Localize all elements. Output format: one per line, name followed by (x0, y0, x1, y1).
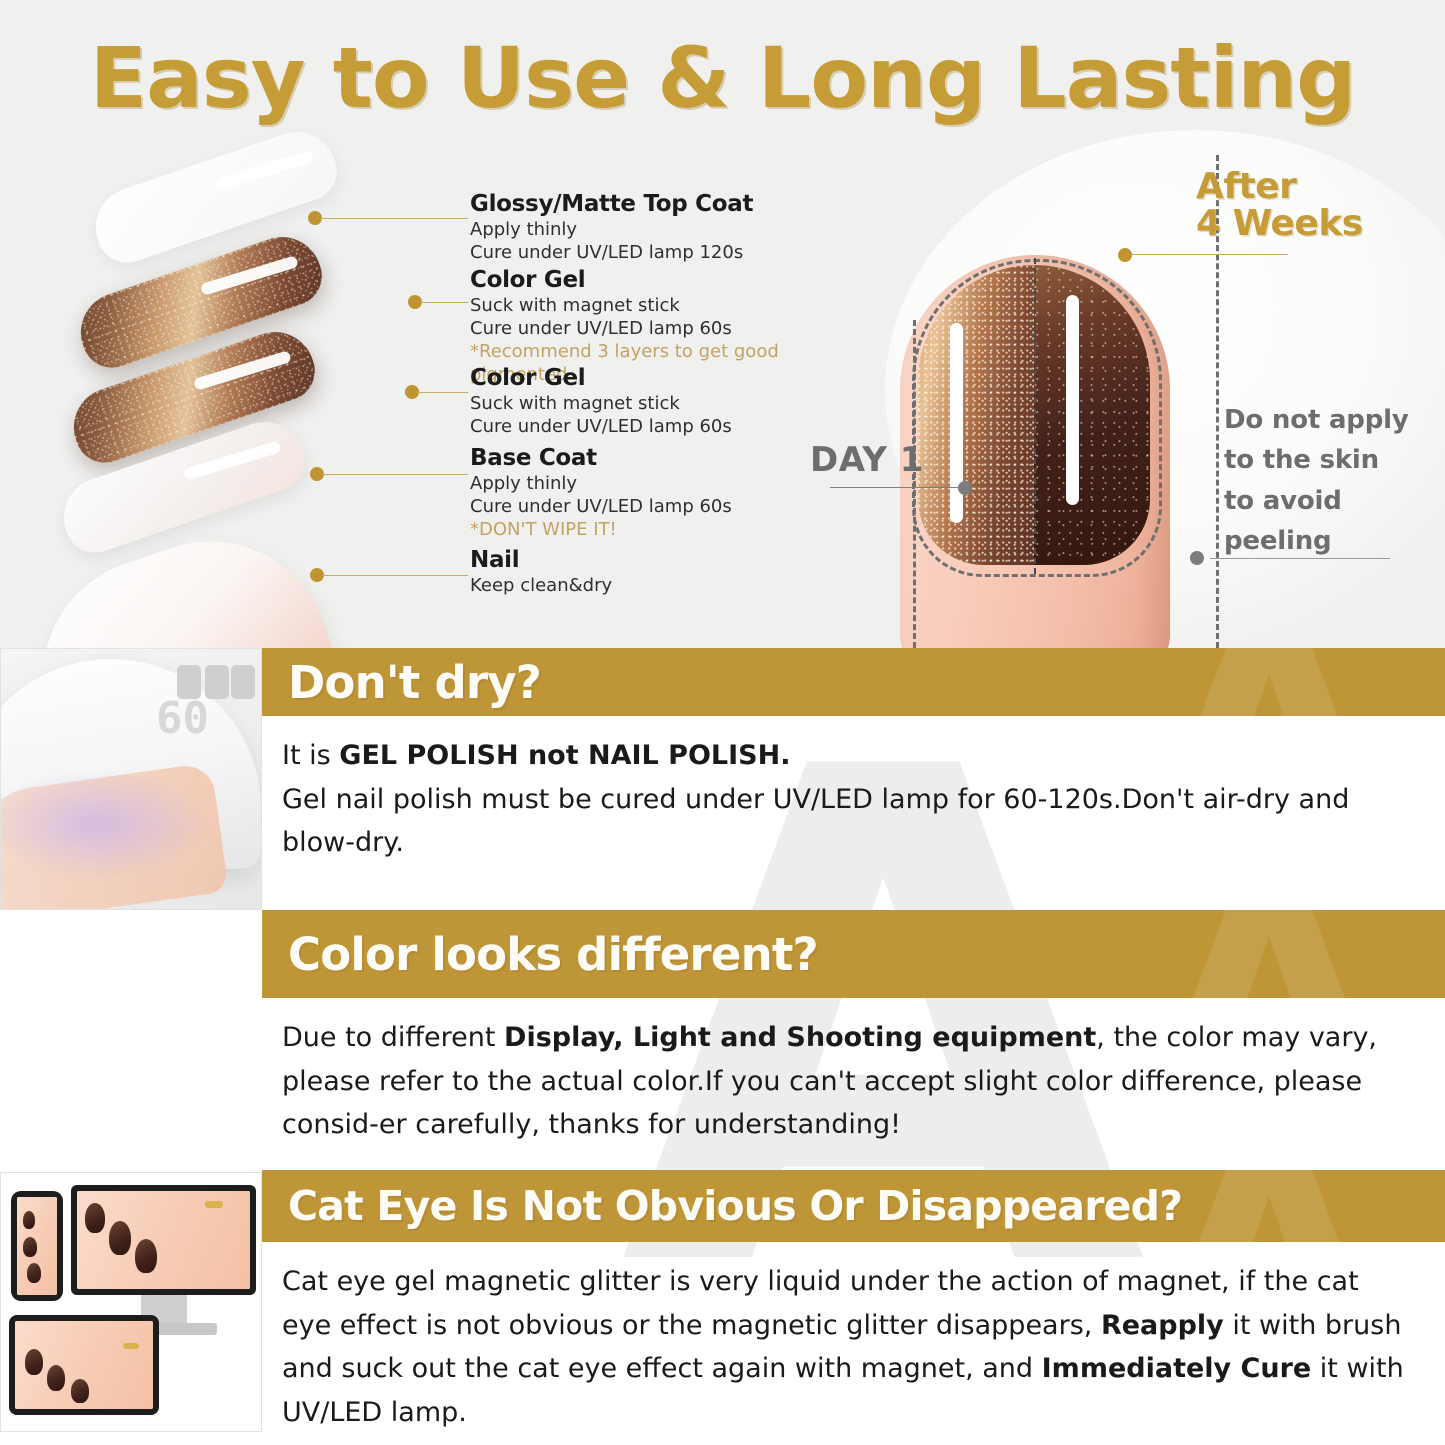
skin-warning-line1: Do not apply (1224, 405, 1409, 435)
leader-dot-after-4-weeks (1118, 248, 1132, 262)
faq-heading-bar: A Cat Eye Is Not Obvious Or Disappeared? (262, 1170, 1445, 1242)
day1-label: DAY 1 (810, 440, 924, 480)
faq-heading: Color looks different? (288, 932, 818, 977)
leader-line-day1 (830, 487, 965, 488)
monitor-device (71, 1185, 256, 1295)
tablet-device (9, 1315, 159, 1415)
annotation-line: Cure under UV/LED lamp 60s (470, 317, 870, 340)
faq-body: Cat eye gel magnetic glitter is very liq… (262, 1242, 1445, 1445)
skin-warning-line3: to avoid peeling (1224, 486, 1342, 556)
lamp-button-2 (205, 665, 229, 699)
faq-item-cat-eye: A Cat Eye Is Not Obvious Or Disappeared?… (262, 1170, 1445, 1445)
faq-body: Due to different Display, Light and Shoo… (262, 998, 1445, 1157)
product-infographic: Easy to Use & Long Lasting Glossy/Matte … (0, 0, 1445, 1445)
lamp-button-3 (231, 665, 255, 699)
lamp-timer-display: 60 (156, 693, 209, 744)
faq-item-color-different: A Color looks different? Due to differen… (262, 910, 1445, 1157)
guide-line-left (913, 320, 916, 648)
faq-heading-bar: A Don't dry? (262, 648, 1445, 716)
leader-dot-skin-warning (1190, 551, 1204, 565)
annotation-line: Suck with magnet stick (470, 392, 870, 415)
faq-section: A 60 A Don't dry? It is GEL POLISH not N… (0, 648, 1445, 1445)
leader-line-color-gel-1 (417, 392, 468, 393)
annotation-line: Cure under UV/LED lamp 60s (470, 495, 870, 518)
leader-line-skin-warning (1210, 558, 1390, 559)
skin-warning-line2: to the skin (1224, 445, 1379, 475)
leader-line-base-coat (322, 474, 468, 475)
bar-watermark: A (1153, 1170, 1385, 1242)
leader-line-color-gel-2 (420, 302, 468, 303)
bar-watermark: A (1153, 910, 1385, 998)
annotation-title: Color Gel (470, 268, 870, 294)
faq-item-dont-dry: A Don't dry? It is GEL POLISH not NAIL P… (262, 648, 1445, 875)
after-4-weeks-label: After 4 Weeks (1196, 168, 1363, 243)
faq-heading: Cat Eye Is Not Obvious Or Disappeared? (288, 1186, 1182, 1227)
annotation-line: Cure under UV/LED lamp 120s (470, 241, 870, 264)
annotation-title: Nail (470, 548, 870, 574)
skin-warning-label: Do not apply to the skin to avoid peelin… (1224, 400, 1445, 561)
annotation-title: Color Gel (470, 366, 870, 392)
nail-split-divider (1034, 258, 1036, 574)
annotation-line: Cure under UV/LED lamp 60s (470, 415, 870, 438)
annotation-note: *DON'T WIPE IT! (470, 518, 870, 541)
annotation-top-coat: Glossy/Matte Top Coat Apply thinly Cure … (470, 192, 870, 264)
faq-heading-bar: A Color looks different? (262, 910, 1445, 998)
layer-natural-nail-shape (10, 509, 359, 648)
nail-outline-dashed (912, 259, 1162, 577)
annotation-title: Glossy/Matte Top Coat (470, 192, 870, 218)
annotation-line: Keep clean&dry (470, 574, 870, 597)
thumbnail-uv-lamp: 60 (0, 648, 262, 910)
phone-device (11, 1191, 63, 1301)
thumbnail-multi-device (0, 1172, 262, 1432)
nail-layer-stack-illustration (50, 150, 470, 648)
leader-line-after-4-weeks (1128, 254, 1288, 255)
page-title: Easy to Use & Long Lasting (0, 36, 1445, 120)
annotation-nail: Nail Keep clean&dry (470, 548, 870, 597)
annotation-line: Apply thinly (470, 218, 870, 241)
bar-watermark: A (1153, 648, 1385, 716)
annotation-color-gel-lower: Color Gel Suck with magnet stick Cure un… (470, 366, 870, 438)
leader-line-top-coat (320, 218, 468, 219)
faq-body: It is GEL POLISH not NAIL POLISH.Gel nai… (262, 716, 1445, 875)
lamp-button-1 (177, 665, 201, 699)
leader-dot-day1 (958, 481, 972, 495)
leader-line-nail (322, 575, 468, 576)
after-label-line1: After (1196, 166, 1296, 207)
after-label-line2: 4 Weeks (1196, 203, 1363, 244)
hero-section: Easy to Use & Long Lasting Glossy/Matte … (0, 0, 1445, 648)
faq-heading: Don't dry? (288, 660, 541, 705)
annotation-line: Suck with magnet stick (470, 294, 870, 317)
